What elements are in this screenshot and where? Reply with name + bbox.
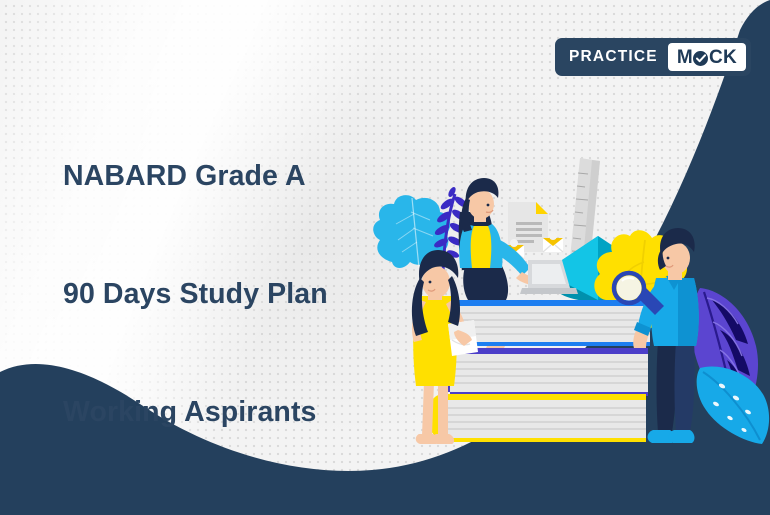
page-title: NABARD Grade A 90 Days Study Plan Workin… [63, 78, 328, 511]
check-circle-icon [693, 51, 708, 66]
logo-mock-suffix: CK [709, 48, 737, 67]
checkmark-glyph [696, 54, 706, 63]
logo-practice-text: PRACTICE [560, 43, 668, 71]
logo-mock-prefix: M [677, 48, 693, 67]
logo-mock-text: M CK [677, 48, 737, 67]
nabard-study-plan-banner: PRACTICE M CK NABARD Grade A 90 Days Stu… [0, 0, 770, 515]
practicemock-logo[interactable]: PRACTICE M CK [555, 38, 751, 76]
headline-line-1: NABARD Grade A [63, 157, 328, 196]
logo-mock-box: M CK [668, 43, 746, 71]
headline-line-2: 90 Days Study Plan [63, 275, 328, 314]
headline-line-3: Working Aspirants [63, 393, 328, 432]
